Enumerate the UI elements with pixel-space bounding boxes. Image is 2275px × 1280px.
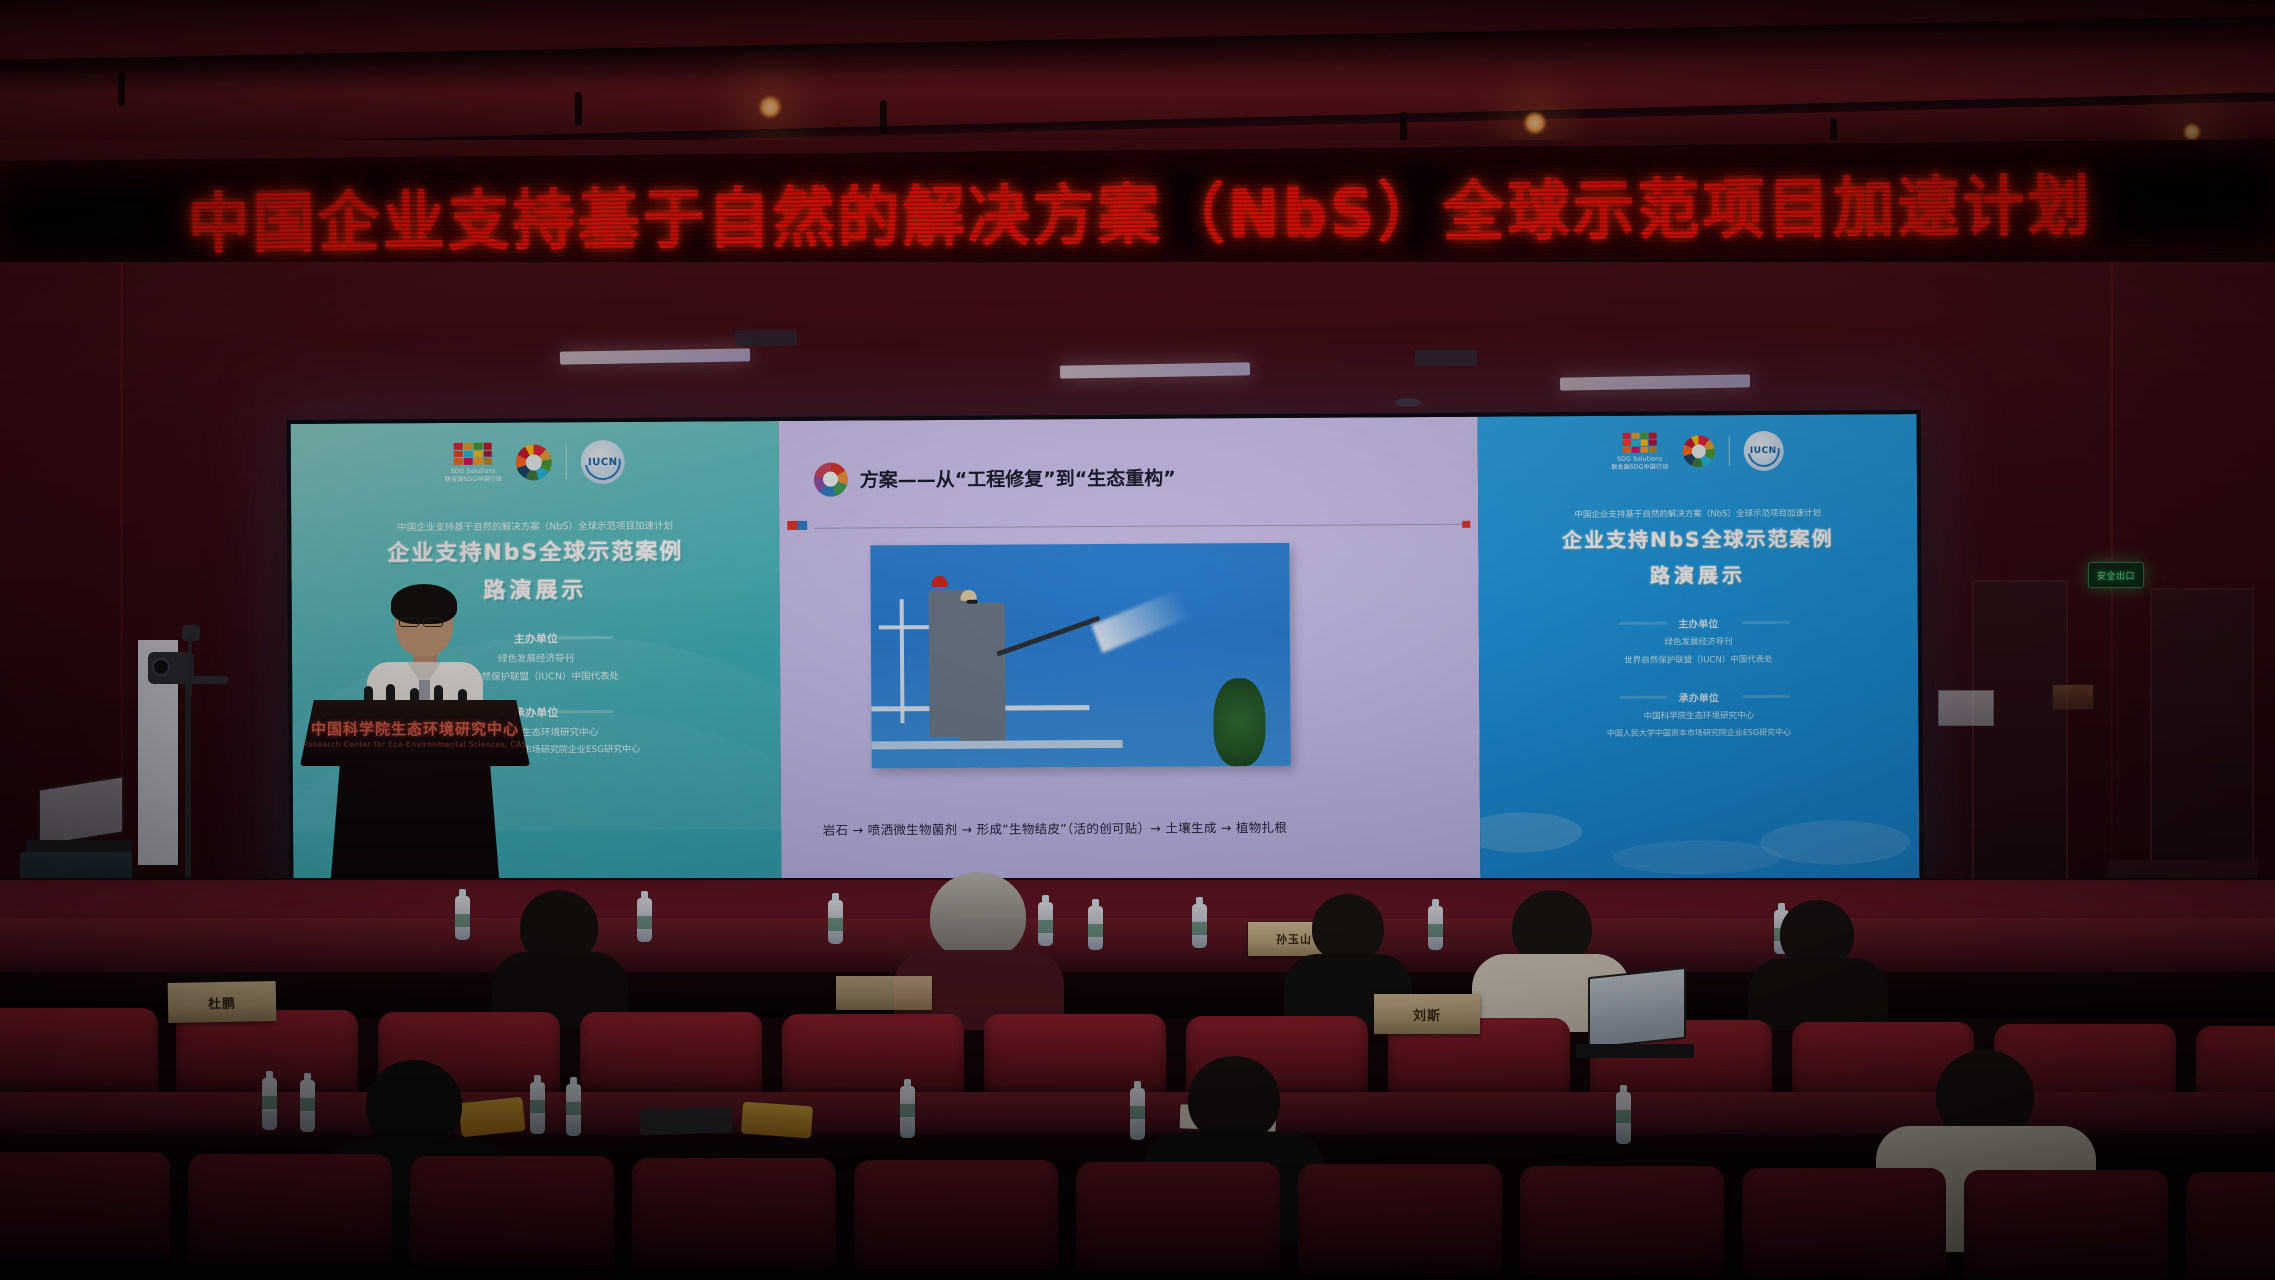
auditorium-seat[interactable] [410,1156,614,1266]
auditorium-seat[interactable] [1520,1166,1724,1276]
backdrop-cloud-decor [1612,840,1782,875]
side-door-left-leaf[interactable] [1972,580,2068,900]
camera-boom-pole [188,636,192,696]
iucn-arc-icon [578,437,628,487]
auditorium-seat[interactable] [0,1008,158,1094]
notebook[interactable] [640,1106,733,1135]
name-placard-label: 杜鹏 [208,992,236,1011]
podium-institution-cn: 中国科学院生态环境研究中心 [300,718,530,739]
ceiling-hook [118,72,125,106]
photo-spray-nozzle [996,616,1101,657]
backdrop-host-line-right: 中国科学院生态环境研究中心 [1479,708,1918,723]
wall-ac-unit [1938,690,1994,726]
speaker-glasses-icon [423,618,443,627]
auditorium-seat[interactable] [1964,1170,2168,1280]
desk-row-1 [0,918,2275,974]
backdrop-subtitle-2-right: 路演展示 [1478,558,1917,590]
sdg-wheel-icon [516,444,552,480]
photo-helmet-red-icon [931,576,947,587]
speaker-glasses-icon [399,618,419,627]
sdg-logo-caption: SDG Solutions 联合国SDG中国行动 [445,468,502,483]
photo-platform-post [900,599,905,724]
audience-head [366,1060,462,1148]
wall-seam [2110,262,2113,962]
ceiling-hook [880,100,887,134]
name-placard: 刘斯 [1374,994,1480,1034]
water-bottle[interactable] [300,1080,315,1132]
backdrop-organizer-line-right: 绿色发展经济导刊 [1479,634,1918,649]
ceiling-downlight [1522,110,1548,136]
sdg-solutions-logo: SDG Solutions 联合国SDG中国行动 [445,443,502,483]
slide-accent-wheel-icon [814,462,848,496]
backdrop-host-rule-right [1743,695,1791,698]
slide-title-row: 方案——从“工程修复”到“生态重构” [814,460,1176,496]
backdrop-organizer-rule-right [1619,622,1667,625]
audience-laptop-lid[interactable] [1588,967,1686,1049]
backdrop-panel-right: SDG Solutions 联合国SDG中国行动 IUCN 中国企业支持基于自然… [1478,414,1920,881]
presentation-slide[interactable]: 方案——从“工程修复”到“生态重构” [778,417,1480,885]
backdrop-title: 企业支持NbS全球示范案例 [291,533,779,568]
audience-head [1312,894,1384,962]
water-bottle[interactable] [1192,904,1207,948]
backdrop-title-right: 企业支持NbS全球示范案例 [1478,522,1917,554]
water-bottle[interactable] [637,898,652,942]
backdrop-organizer-rule-right [1742,621,1790,624]
projection-screen-surface: SDG Solutions 联合国SDG中国行动 IUCN 中国企业支持基于自然… [291,414,1920,888]
logo-divider [1728,436,1729,466]
audience-laptop-base[interactable] [1576,1044,1694,1058]
backdrop-host-heading-right: 承办单位 [1479,688,1918,706]
auditorium-seat[interactable] [1742,1168,1946,1278]
water-bottle[interactable] [1088,906,1103,950]
auditorium-seat[interactable] [1076,1162,1280,1272]
projection-screen[interactable]: SDG Solutions 联合国SDG中国行动 IUCN 中国企业支持基于自然… [287,410,1924,892]
water-bottle[interactable] [828,900,843,944]
audience-head [1188,1056,1280,1142]
camera-lens-icon [152,658,170,676]
name-placard-label: 刘斯 [1413,1005,1441,1024]
side-door-right-leaf[interactable] [2150,588,2254,906]
water-bottle[interactable] [1616,1092,1631,1144]
water-bottle[interactable] [1038,902,1053,946]
auditorium-seat[interactable] [1298,1164,1502,1274]
snack-bag [458,1097,525,1138]
auditorium-seat[interactable] [580,1012,762,1098]
led-banner-text: 中国企业支持基于自然的解决方案（NbS）全球示范项目加速计划 [187,152,2093,266]
emergency-exit-sign: 安全出口 [2088,562,2144,588]
water-bottle[interactable] [455,896,470,940]
backdrop-cloud-decor [1478,812,1583,853]
snack-bag [741,1102,813,1139]
ceiling-air-diffuser [1415,350,1477,366]
auditorium-seat[interactable] [854,1160,1058,1270]
auditorium-seat[interactable] [188,1154,392,1264]
ceiling-air-diffuser [735,330,797,346]
backdrop-logo-row-right: SDG Solutions 联合国SDG中国行动 IUCN [1611,431,1783,472]
iucn-logo: IUCN [1743,431,1783,471]
sdg-color-grid-icon [1623,433,1657,453]
backdrop-host-rule-right [1620,696,1668,699]
name-placard-label: 孙玉山 [1276,931,1312,947]
backdrop-host-rule [556,710,614,713]
logo-divider [566,445,567,479]
ceiling-downlight [757,94,783,120]
backdrop-subtitle: 中国企业支持基于自然的解决方案（NbS）全球示范项目加速计划 [291,517,779,534]
sdg-color-grid-icon [454,443,492,465]
photo-spray-plume [1091,591,1187,654]
podium-top: 中国科学院生态环境研究中心 Research Center for Eco-En… [300,700,530,766]
wall-vent [2052,684,2094,710]
audience-area: 孙玉山 杜鹏 刘斯 [0,900,2275,1280]
backdrop-cloud-decor [1760,820,1910,865]
water-bottle[interactable] [566,1084,581,1136]
water-bottle[interactable] [1130,1088,1145,1140]
water-bottle[interactable] [900,1086,915,1138]
name-placard [836,976,932,1010]
iucn-logo: IUCN [581,440,625,484]
led-banner: 中国企业支持基于自然的解决方案（NbS）全球示范项目加速计划 [0,139,2275,279]
water-bottle[interactable] [1428,906,1443,950]
slide-photo [870,543,1291,768]
auditorium-seat[interactable] [782,1014,964,1100]
tripod-column [185,684,191,890]
iucn-arc-icon [1741,429,1786,474]
water-bottle[interactable] [262,1078,277,1130]
slide-rule-dot-red [1462,520,1470,527]
photo-platform-deck [871,740,1123,750]
slide-rule-left-marker-blue [797,521,807,530]
auditorium-seat[interactable] [2186,1172,2275,1280]
slide-divider-rule [814,524,1464,529]
water-bottle[interactable] [530,1082,545,1134]
emergency-exit-label: 安全出口 [2097,569,2135,582]
photo-worker-front [958,603,1005,741]
audience-body [1748,958,1888,1030]
slide-title: 方案——从“工程修复”到“生态重构” [860,464,1176,493]
backdrop-organizer-rule [555,636,613,639]
backdrop-logo-row: SDG Solutions 联合国SDG中国行动 IUCN [445,440,625,485]
sdg-solutions-logo: SDG Solutions 联合国SDG中国行动 [1611,433,1668,471]
audience-head [930,872,1026,960]
conference-room-scene: 中国企业支持基于自然的解决方案（NbS）全球示范项目加速计划 [0,0,2275,1280]
backdrop-host-line-right: 中国人民大学中国资本市场研究院企业ESG研究中心 [1479,726,1918,740]
sdg-logo-caption: SDG Solutions 联合国SDG中国行动 [1611,456,1668,471]
photo-tree [1213,678,1266,766]
sdg-wheel-icon [1682,435,1714,467]
auditorium-seat[interactable] [0,1152,170,1262]
ceiling-smoke-detector [1395,398,1421,407]
photo-worker-goggles-icon [967,600,978,604]
ceiling-hook [575,92,582,126]
slide-caption: 岩石 → 喷洒微生物菌剂 → 形成“生物结皮”（活的创可贴）→ 土壤生成 → 植… [823,816,1445,839]
auditorium-seat[interactable] [632,1158,836,1268]
podium-institution-en: Research Center for Eco-Environmental Sc… [300,740,530,749]
name-placard: 杜鹏 [168,981,277,1023]
backdrop-organizer-line-right: 世界自然保护联盟（IUCN）中国代表处 [1479,652,1918,667]
backdrop-organizer-heading-right: 主办单位 [1479,614,1918,632]
backdrop-subtitle-right: 中国企业支持基于自然的解决方案（NbS）全球示范项目加速计划 [1478,506,1917,521]
